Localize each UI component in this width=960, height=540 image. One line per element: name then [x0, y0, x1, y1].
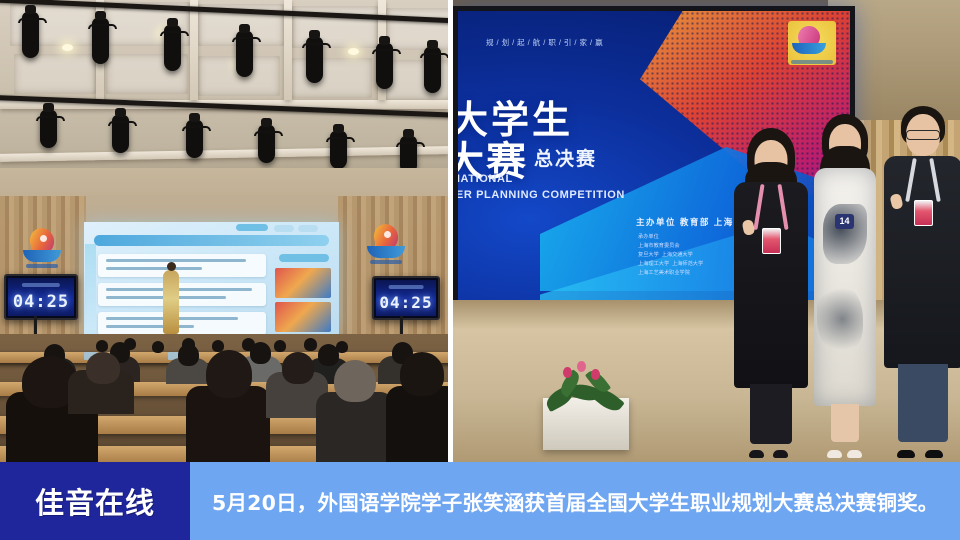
shoe	[773, 450, 788, 458]
stage-light	[164, 25, 181, 71]
led-subtitle: 总决赛	[534, 144, 597, 171]
contestant-number-badge: 14	[835, 214, 854, 229]
ceiling-downlight	[62, 44, 73, 51]
audience-member	[274, 340, 286, 352]
countdown-monitor-left: 04:25	[4, 274, 78, 320]
jacket	[884, 156, 960, 368]
slide-sidebar	[85, 244, 96, 330]
slide-tab	[236, 224, 268, 231]
slide-image	[275, 268, 331, 298]
audience-member	[96, 340, 108, 352]
group-photo: 规/划/起/航/职/引/家/赢 大学生 大赛 总决赛 NATIONAL EER …	[453, 0, 960, 462]
auditorium-photo: 04:25 04:25	[0, 0, 448, 462]
countdown-screen: 04:25	[8, 278, 74, 316]
slide-text-line	[106, 325, 194, 328]
ceiling-coffer	[386, 8, 448, 50]
flower-bloom	[577, 361, 586, 372]
competition-logo-icon	[788, 21, 836, 65]
slide-text-line	[106, 267, 202, 270]
stage-light	[424, 47, 441, 93]
slide-tab	[274, 225, 294, 232]
slide-card	[98, 283, 266, 306]
caption-text: 5月20日，外国语学院学子张笑涵获首届全国大学生职业规划大赛总决赛铜奖。	[212, 486, 939, 516]
photo-collage: 04:25 04:25	[0, 0, 960, 462]
stage-light	[330, 131, 347, 169]
presenter	[163, 270, 179, 334]
audience-member	[304, 338, 317, 351]
countdown-screen: 04:25	[376, 280, 436, 316]
ink-pattern	[823, 204, 867, 264]
audience-member	[86, 352, 120, 384]
stage-light	[258, 125, 275, 163]
stage-light	[22, 12, 39, 58]
stage-light	[306, 37, 323, 83]
audience-member	[334, 360, 376, 402]
shoe	[897, 450, 915, 458]
stage-light	[112, 115, 129, 153]
audience-member	[400, 352, 444, 396]
led-slogan: 规/划/起/航/职/引/家/赢	[486, 37, 606, 48]
ink-pattern	[817, 284, 863, 354]
audience-member	[250, 342, 271, 364]
ceiling-downlight	[348, 48, 359, 55]
legs	[750, 384, 792, 444]
audience-member	[178, 344, 199, 366]
projection-screen	[84, 222, 339, 334]
countdown-monitor-right: 04:25	[372, 276, 440, 320]
slide-title-bar	[94, 235, 329, 246]
led-english-line1: NATIONAL	[453, 173, 513, 185]
participant-badge	[914, 200, 933, 226]
person-right	[879, 106, 960, 458]
slide-text-line	[106, 288, 252, 291]
photo-divider	[448, 0, 453, 462]
news-photo-card: 04:25 04:25	[0, 0, 960, 540]
stage-light	[92, 18, 109, 64]
flower-bloom	[591, 369, 600, 380]
legs	[831, 404, 859, 442]
countdown-value: 04:25	[376, 293, 436, 312]
slide-image	[275, 302, 331, 332]
audience-member	[386, 386, 448, 462]
shoe	[925, 450, 943, 458]
person-center: 14	[805, 114, 885, 458]
audience-member	[152, 341, 164, 353]
shoe	[847, 450, 862, 458]
stage-light	[40, 110, 57, 148]
countdown-caption	[22, 283, 60, 287]
slide-text-line	[106, 259, 246, 262]
slide-tab	[279, 254, 329, 262]
flower-bloom	[563, 367, 572, 378]
glasses-icon	[906, 130, 940, 140]
stage-light	[236, 31, 253, 77]
caption-container: 5月20日，外国语学院学子张笑涵获首届全国大学生职业规划大赛总决赛铜奖。	[190, 462, 960, 540]
competition-emblem-icon	[22, 226, 62, 270]
auditorium-scene: 04:25 04:25	[0, 0, 448, 462]
slide-card	[98, 254, 266, 277]
caption-banner: 佳音在线 5月20日，外国语学院学子张笑涵获首届全国大学生职业规划大赛总决赛铜奖…	[0, 462, 960, 540]
countdown-value: 04:25	[8, 292, 74, 312]
legs	[898, 364, 948, 442]
stage-scene: 规/划/起/航/职/引/家/赢 大学生 大赛 总决赛 NATIONAL EER …	[453, 0, 960, 462]
ceiling-beam	[190, 0, 198, 100]
countdown-caption	[389, 285, 424, 289]
led-host-units: 承办单位 上海市教育委员会 复旦大学 上海交通大学 上海理工大学 上海师范大学 …	[638, 233, 703, 278]
slide-tab	[298, 225, 318, 232]
person-left	[729, 128, 813, 458]
audience-member	[282, 352, 314, 384]
audience-member	[316, 392, 394, 462]
stage-light	[186, 120, 203, 158]
ceiling-coffer	[14, 54, 96, 94]
slide-card	[98, 312, 266, 334]
source-label: 佳音在线	[35, 480, 155, 522]
led-english-line2: EER PLANNING COMPETITION	[453, 189, 625, 201]
shoe	[749, 450, 764, 458]
audience-member	[206, 350, 252, 398]
coat	[734, 182, 808, 388]
stage-light	[376, 43, 393, 89]
competition-emblem-icon	[366, 222, 406, 266]
participant-badge	[762, 228, 781, 254]
ceiling-coffer	[290, 58, 372, 98]
shoe	[827, 450, 842, 458]
source-badge: 佳音在线	[0, 462, 190, 540]
audience-member	[318, 344, 339, 366]
